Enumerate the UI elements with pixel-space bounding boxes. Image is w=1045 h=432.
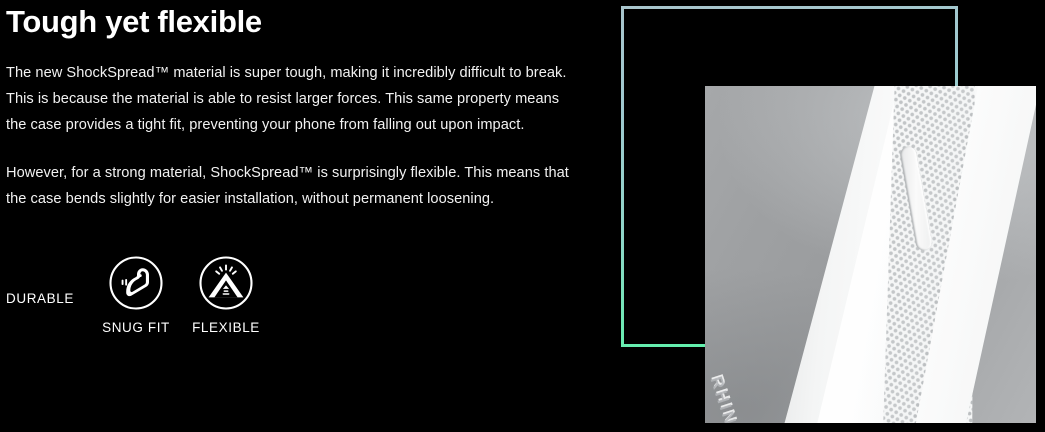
body-paragraph-2: However, for a strong material, ShockSpr… [6, 160, 576, 212]
body-paragraph-1: The new ShockSpread™ material is super t… [6, 60, 576, 138]
feature-item-flexible: FLEXIBLE [186, 255, 266, 336]
feature-label-durable: DURABLE [6, 291, 86, 307]
page-title: Tough yet flexible [6, 0, 576, 42]
visual-panel: RHINOSHIELD [576, 0, 1045, 432]
feature-label-flexible: FLEXIBLE [186, 320, 266, 336]
content-column: Tough yet flexible The new ShockSpread™ … [6, 0, 576, 432]
feature-item-durable: DURABLE [6, 291, 86, 307]
feature-label-snug-fit: SNUG FIT [92, 320, 180, 336]
flex-chevron-icon [198, 255, 254, 311]
feature-item-snug-fit: SNUG FIT [92, 255, 180, 336]
phone-case-texture-photo: RHINOSHIELD [705, 86, 1036, 423]
hand-holding-phone-icon [108, 255, 164, 311]
feature-list: DURABLE SNUG FIT [6, 250, 576, 350]
